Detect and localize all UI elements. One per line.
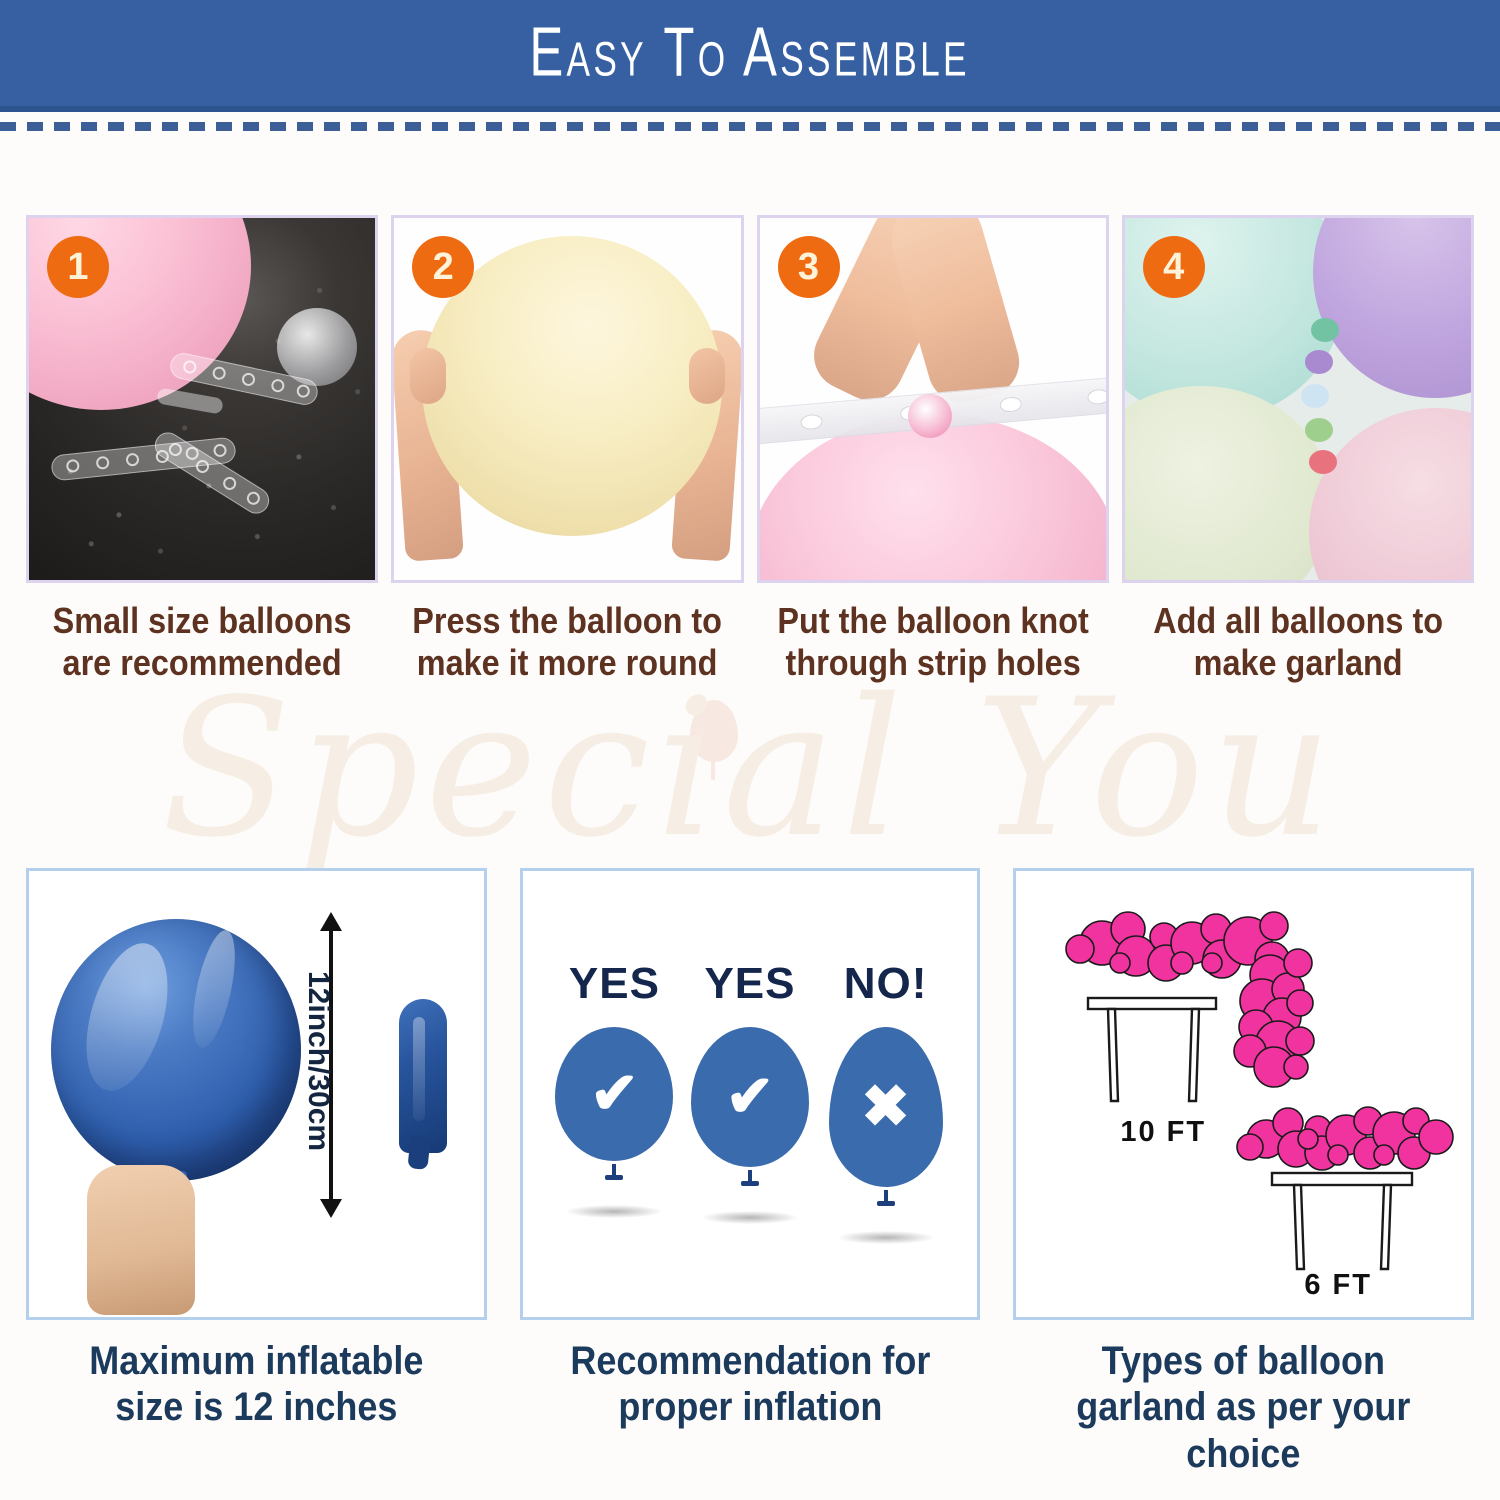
knot-lightgreen <box>1305 418 1333 442</box>
step-caption-2: Press the balloon to make it more round <box>409 600 726 685</box>
watermark-balloon-icon <box>690 700 738 762</box>
step-badge-4: 4 <box>1143 236 1205 298</box>
balloon-tie-icon <box>748 1170 752 1182</box>
watermark-text: Special You <box>161 674 1339 864</box>
step-caption-3-line2: through strip holes <box>774 642 1091 684</box>
balloon-tie-icon <box>612 1164 616 1176</box>
balloon-shadow <box>566 1205 662 1218</box>
knot-white <box>1301 384 1329 408</box>
info-caption-size-line2: size is 12 inches <box>49 1384 464 1430</box>
step-caption-1: Small size balloons are recommended <box>44 600 361 685</box>
step-card-1: 1 <box>26 215 378 583</box>
info-caption-size: Maximum inflatable size is 12 inches <box>49 1338 464 1477</box>
dashed-divider <box>0 122 1500 131</box>
balloon-knot <box>908 394 952 438</box>
cream-balloon <box>1125 386 1333 580</box>
info-caption-garland: Types of balloon garland as per your cho… <box>1036 1338 1451 1477</box>
knot-green <box>1311 318 1339 342</box>
deflated-balloon-tail <box>407 1136 430 1170</box>
inflation-label-1: YES <box>569 959 660 1009</box>
step-card-3: 3 <box>757 215 1109 583</box>
info-caption-inflation-line2: proper inflation <box>543 1384 958 1430</box>
info-card-inflation: YES ✔ YES ✔ NO! ✖ <box>520 868 981 1320</box>
assembly-steps-row: 1 2 3 <box>26 215 1474 583</box>
garland-6ft <box>1237 1107 1453 1170</box>
step-caption-2-line2: make it more round <box>409 642 726 684</box>
info-caption-garland-line2: garland as per your choice <box>1036 1384 1451 1477</box>
info-caption-garland-line1: Types of balloon <box>1036 1338 1451 1384</box>
pink-balloon <box>1309 408 1471 580</box>
knot-red <box>1309 450 1337 474</box>
inflation-option-1: YES ✔ <box>550 959 678 1218</box>
left-thumb <box>410 348 446 404</box>
check-icon: ✔ <box>590 1065 639 1123</box>
purple-balloon <box>1313 218 1471 398</box>
step-caption-4-line2: make garland <box>1139 642 1456 684</box>
step-caption-1-line1: Small size balloons <box>44 600 361 642</box>
step-caption-3: Put the balloon knot through strip holes <box>774 600 1091 685</box>
info-card-garland: 10 FT 6 FT <box>1013 868 1474 1320</box>
inflation-label-2: YES <box>704 959 795 1009</box>
garland-label-6ft: 6 FT <box>1304 1269 1372 1302</box>
table-10ft <box>1088 998 1216 1101</box>
check-icon: ✔ <box>726 1068 775 1126</box>
table-6ft <box>1272 1173 1412 1269</box>
inflation-option-3: NO! ✖ <box>822 959 950 1244</box>
header-band: Easy To Assemble <box>0 0 1500 112</box>
info-card-size: 12inch/30cm <box>26 868 487 1320</box>
balloon-tie-icon <box>884 1190 888 1202</box>
balloon-icon-ok-2: ✔ <box>691 1027 809 1167</box>
info-caption-size-line1: Maximum inflatable <box>49 1338 464 1384</box>
knot-purple <box>1305 350 1333 374</box>
deflated-balloon-highlight <box>413 1017 425 1121</box>
info-caption-inflation-line1: Recommendation for <box>543 1338 958 1384</box>
balloon-icon-ok-1: ✔ <box>555 1027 673 1161</box>
right-thumb <box>689 348 725 404</box>
step-badge-2: 2 <box>412 236 474 298</box>
garland-diagram <box>1016 871 1474 1320</box>
step-caption-4: Add all balloons to make garland <box>1139 600 1456 685</box>
page-title: Easy To Assemble <box>530 18 970 87</box>
balloon-shadow <box>838 1231 934 1244</box>
balloon-shadow <box>702 1211 798 1224</box>
step-card-4: 4 <box>1122 215 1474 583</box>
step-card-2: 2 <box>391 215 743 583</box>
inflation-options: YES ✔ YES ✔ NO! ✖ <box>523 871 978 1317</box>
garland-label-10ft: 10 FT <box>1120 1116 1206 1149</box>
step-caption-4-line1: Add all balloons to <box>1139 600 1456 642</box>
step-caption-1-line2: are recommended <box>44 642 361 684</box>
info-caption-inflation: Recommendation for proper inflation <box>543 1338 958 1477</box>
step-caption-2-line1: Press the balloon to <box>409 600 726 642</box>
step-badge-1: 1 <box>47 236 109 298</box>
balloon-icon-bad: ✖ <box>829 1027 943 1187</box>
inflation-option-2: YES ✔ <box>686 959 814 1224</box>
size-dimension-label: 12inch/30cm <box>301 971 335 1151</box>
hand-holding-balloon <box>87 1165 195 1315</box>
cross-icon: ✖ <box>861 1078 910 1136</box>
step-caption-3-line1: Put the balloon knot <box>774 600 1091 642</box>
inflation-label-3: NO! <box>844 959 928 1009</box>
info-panels-row: 12inch/30cm YES ✔ YES ✔ <box>26 868 1474 1320</box>
step-captions-row: Small size balloons are recommended Pres… <box>26 600 1474 685</box>
step-badge-3: 3 <box>778 236 840 298</box>
info-captions-row: Maximum inflatable size is 12 inches Rec… <box>26 1338 1474 1477</box>
